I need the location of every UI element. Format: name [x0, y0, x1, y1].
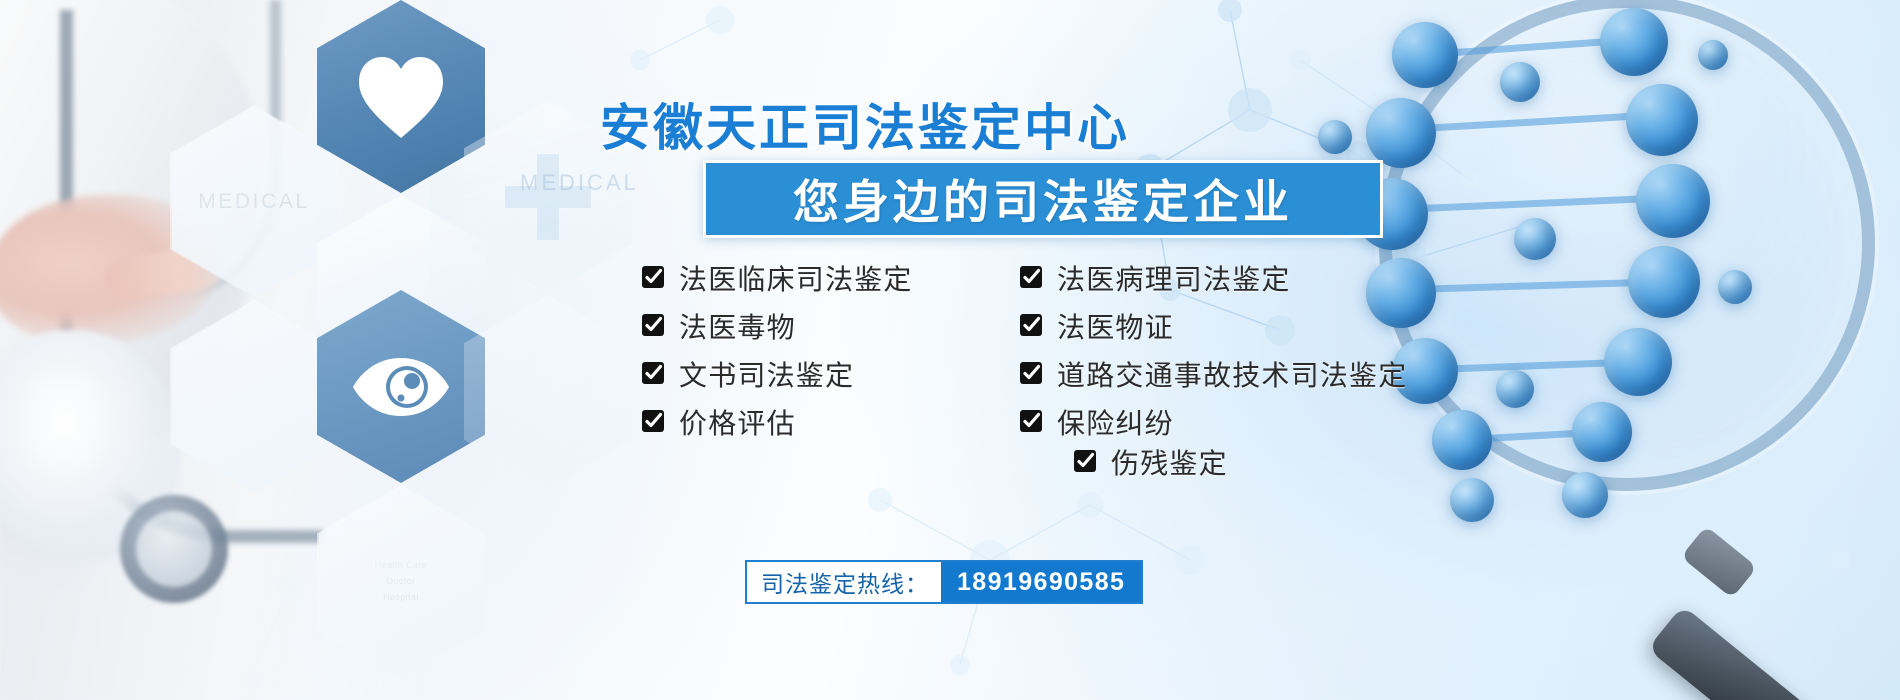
- services-checklist: 法医临床司法鉴定 法医病理司法鉴定: [640, 258, 1380, 450]
- service-label: 文书司法鉴定: [679, 354, 854, 394]
- service-label: 法医病理司法鉴定: [1057, 258, 1291, 298]
- checkbox-checked-icon[interactable]: [640, 409, 666, 435]
- checkbox-checked-icon[interactable]: [1018, 361, 1044, 387]
- service-column-right: 道路交通事故技术司法鉴定: [1018, 354, 1380, 394]
- checkbox-checked-icon[interactable]: [640, 313, 666, 339]
- service-row: 法医毒物 法医物证: [640, 306, 1380, 354]
- service-item[interactable]: 法医物证: [1018, 306, 1174, 346]
- service-column-right: 法医物证: [1018, 306, 1380, 346]
- service-label: 道路交通事故技术司法鉴定: [1057, 354, 1407, 394]
- promotional-banner: MEDICAL H: [0, 0, 1900, 700]
- service-column-right: 法医病理司法鉴定: [1018, 258, 1380, 298]
- service-item[interactable]: 法医病理司法鉴定: [1018, 258, 1291, 298]
- service-item[interactable]: 文书司法鉴定: [640, 354, 854, 394]
- service-item[interactable]: 道路交通事故技术司法鉴定: [1018, 354, 1407, 394]
- subtitle-text: 您身边的司法鉴定企业: [793, 166, 1293, 232]
- checkbox-checked-icon[interactable]: [1018, 409, 1044, 435]
- service-label: 价格评估: [679, 402, 796, 442]
- service-label: 法医临床司法鉴定: [679, 258, 913, 298]
- service-label: 法医毒物: [679, 306, 796, 346]
- subtitle-banner: 您身边的司法鉴定企业: [703, 160, 1383, 238]
- checkbox-checked-icon[interactable]: [640, 265, 666, 291]
- checkbox-checked-icon[interactable]: [640, 361, 666, 387]
- service-column-left: 价格评估: [640, 402, 1018, 442]
- checkbox-checked-icon[interactable]: [1018, 265, 1044, 291]
- service-row: 文书司法鉴定 道路交通事故技术司法鉴定: [640, 354, 1380, 402]
- checkbox-checked-icon[interactable]: [1018, 313, 1044, 339]
- service-item[interactable]: 法医临床司法鉴定: [640, 258, 913, 298]
- hotline-box[interactable]: 司法鉴定热线： 18919690585: [745, 560, 1143, 604]
- checkbox-checked-icon[interactable]: [1072, 449, 1098, 475]
- service-label: 伤残鉴定: [1111, 442, 1228, 482]
- service-item[interactable]: 价格评估: [640, 402, 796, 442]
- service-item[interactable]: 伤残鉴定: [1072, 442, 1228, 482]
- hotline-label: 司法鉴定热线：: [747, 562, 941, 602]
- service-label: 保险纠纷: [1057, 402, 1174, 442]
- service-label: 法医物证: [1057, 306, 1174, 346]
- service-column-left: 法医临床司法鉴定: [640, 258, 1018, 298]
- page-title: 安徽天正司法鉴定中心: [600, 88, 1130, 160]
- banner-content: 安徽天正司法鉴定中心 您身边的司法鉴定企业 法医临床司法鉴定: [0, 0, 1900, 700]
- hotline-number[interactable]: 18919690585: [941, 562, 1141, 602]
- service-item[interactable]: 保险纠纷: [1018, 402, 1174, 442]
- service-row: 法医临床司法鉴定 法医病理司法鉴定: [640, 258, 1380, 306]
- service-row: 价格评估 保险纠纷: [640, 402, 1380, 450]
- service-item[interactable]: 法医毒物: [640, 306, 796, 346]
- service-column-right: 保险纠纷 伤残鉴定: [1018, 402, 1380, 482]
- service-column-left: 文书司法鉴定: [640, 354, 1018, 394]
- service-column-left: 法医毒物: [640, 306, 1018, 346]
